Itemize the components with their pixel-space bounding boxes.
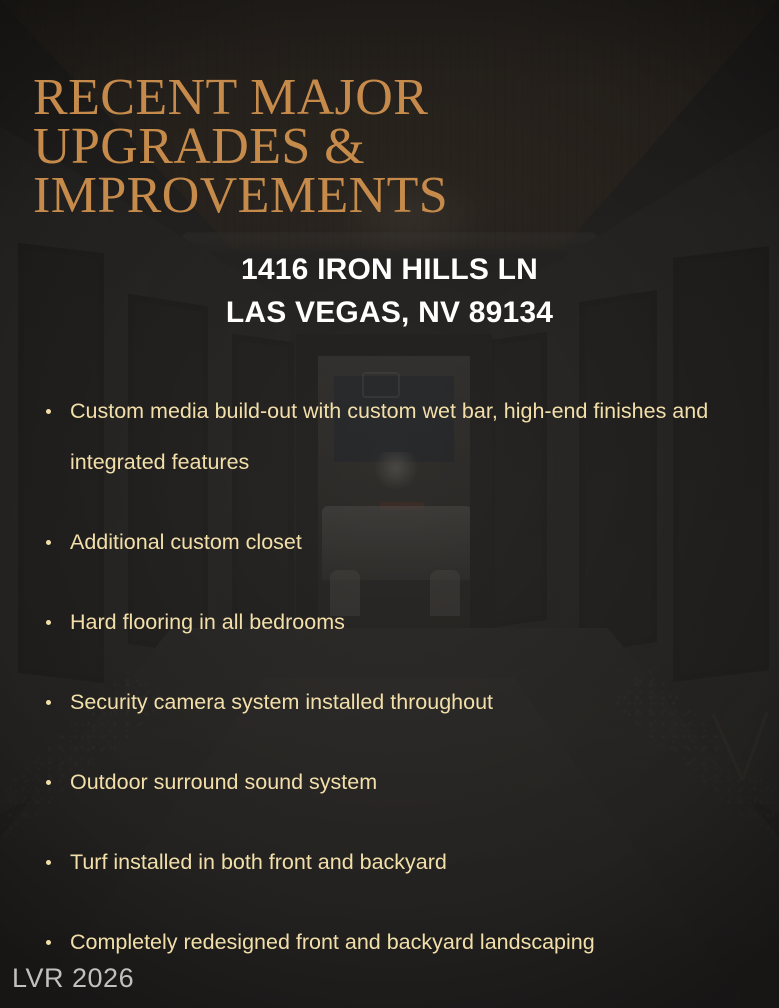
list-item: Hard flooring in all bedrooms bbox=[44, 597, 756, 648]
list-item: Custom media build-out with custom wet b… bbox=[44, 386, 756, 488]
address-street: 1416 IRON HILLS LN bbox=[0, 248, 779, 291]
page-title-line-3: IMPROVEMENTS bbox=[33, 171, 733, 220]
flyer-content: RECENT MAJOR UPGRADES & IMPROVEMENTS 141… bbox=[0, 0, 779, 1008]
page-title-line-2: UPGRADES & bbox=[33, 122, 733, 171]
list-item: Additional custom closet bbox=[44, 517, 756, 568]
property-address: 1416 IRON HILLS LN LAS VEGAS, NV 89134 bbox=[0, 248, 779, 334]
page-title: RECENT MAJOR UPGRADES & IMPROVEMENTS bbox=[33, 73, 733, 220]
list-item: Turf installed in both front and backyar… bbox=[44, 837, 756, 888]
page-title-line-1: RECENT MAJOR bbox=[33, 73, 733, 122]
address-city-state-zip: LAS VEGAS, NV 89134 bbox=[0, 291, 779, 334]
list-item: Completely redesigned front and backyard… bbox=[44, 917, 756, 968]
watermark-label: LVR 2026 bbox=[12, 963, 134, 994]
upgrades-list: Custom media build-out with custom wet b… bbox=[44, 386, 756, 1008]
list-item: Custom window treatments throughout bbox=[44, 997, 756, 1008]
list-item: Security camera system installed through… bbox=[44, 677, 756, 728]
list-item: Outdoor surround sound system bbox=[44, 757, 756, 808]
property-upgrades-flyer: RECENT MAJOR UPGRADES & IMPROVEMENTS 141… bbox=[0, 0, 779, 1008]
